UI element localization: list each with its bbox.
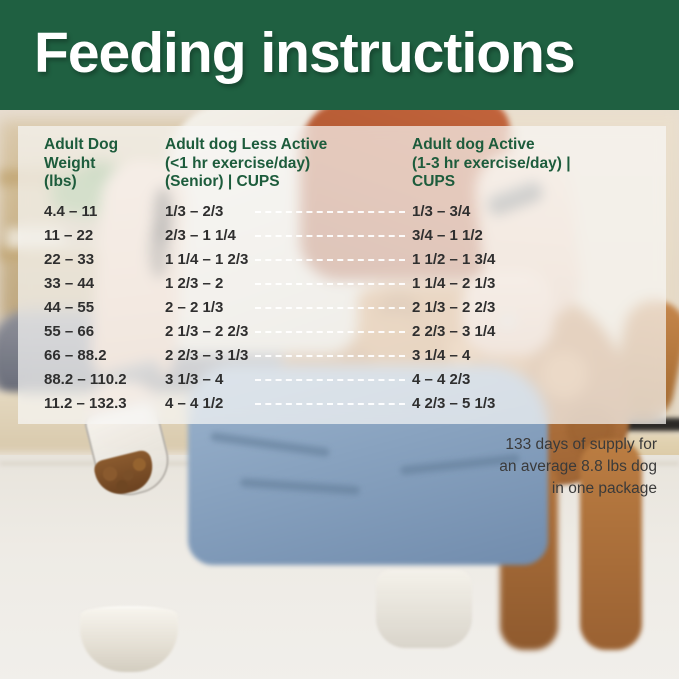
dotted-leader-line bbox=[255, 211, 405, 213]
table-row: 55 – 662 1/3 – 2 2/32 2/3 – 3 1/4 bbox=[18, 320, 666, 344]
table-row: 11 – 222/3 – 1 1/43/4 – 1 1/2 bbox=[18, 224, 666, 248]
cell-less-active: 4 – 4 1/2 bbox=[165, 392, 223, 416]
cell-less-active: 1/3 – 2/3 bbox=[165, 200, 223, 224]
cell-less-active: 1 2/3 – 2 bbox=[165, 272, 223, 296]
supply-note: 133 days of supply for an average 8.8 lb… bbox=[407, 434, 657, 500]
cell-active: 3 1/4 – 4 bbox=[412, 344, 470, 368]
cell-less-active: 3 1/3 – 4 bbox=[165, 368, 223, 392]
cell-weight: 44 – 55 bbox=[44, 296, 94, 320]
cell-weight: 22 – 33 bbox=[44, 248, 94, 272]
cell-active: 1 1/4 – 2 1/3 bbox=[412, 272, 495, 296]
dotted-leader-line bbox=[255, 355, 405, 357]
cell-active: 4 2/3 – 5 1/3 bbox=[412, 392, 495, 416]
column-header-active: Adult dog Active (1-3 hr exercise/day) |… bbox=[412, 136, 571, 192]
cell-less-active: 2/3 – 1 1/4 bbox=[165, 224, 236, 248]
cell-active: 4 – 4 2/3 bbox=[412, 368, 470, 392]
cell-weight: 55 – 66 bbox=[44, 320, 94, 344]
cell-less-active: 2 2/3 – 3 1/3 bbox=[165, 344, 248, 368]
cell-weight: 11 – 22 bbox=[44, 224, 93, 248]
dotted-leader-line bbox=[255, 283, 405, 285]
page-title: Feeding instructions bbox=[34, 20, 575, 86]
cell-active: 1 1/2 – 1 3/4 bbox=[412, 248, 495, 272]
table-row: 4.4 – 111/3 – 2/31/3 – 3/4 bbox=[18, 200, 666, 224]
dotted-leader-line bbox=[255, 307, 405, 309]
cell-less-active: 2 1/3 – 2 2/3 bbox=[165, 320, 248, 344]
table-header-row: Adult Dog Weight (lbs) Adult dog Less Ac… bbox=[18, 126, 666, 198]
dotted-leader-line bbox=[255, 235, 405, 237]
cell-weight: 88.2 – 110.2 bbox=[44, 368, 127, 392]
secondary-bowl bbox=[376, 570, 472, 648]
table-row: 22 – 331 1/4 – 1 2/31 1/2 – 1 3/4 bbox=[18, 248, 666, 272]
header-banner: Feeding instructions bbox=[0, 0, 679, 110]
cell-less-active: 2 – 2 1/3 bbox=[165, 296, 223, 320]
dotted-leader-line bbox=[255, 259, 405, 261]
table-row: 66 – 88.22 2/3 – 3 1/33 1/4 – 4 bbox=[18, 344, 666, 368]
feeding-instructions-page: Feeding instructions Adult Dog Weight (l… bbox=[0, 0, 679, 679]
column-header-weight: Adult Dog Weight (lbs) bbox=[44, 136, 118, 192]
cell-active: 3/4 – 1 1/2 bbox=[412, 224, 483, 248]
table-row: 44 – 552 – 2 1/32 1/3 – 2 2/3 bbox=[18, 296, 666, 320]
table-row: 11.2 – 132.34 – 4 1/24 2/3 – 5 1/3 bbox=[18, 392, 666, 416]
cell-weight: 33 – 44 bbox=[44, 272, 94, 296]
cell-weight: 66 – 88.2 bbox=[44, 344, 107, 368]
dotted-leader-line bbox=[255, 403, 405, 405]
cell-weight: 11.2 – 132.3 bbox=[44, 392, 127, 416]
cell-active: 2 1/3 – 2 2/3 bbox=[412, 296, 495, 320]
cell-weight: 4.4 – 11 bbox=[44, 200, 97, 224]
table-body: 4.4 – 111/3 – 2/31/3 – 3/411 – 222/3 – 1… bbox=[18, 200, 666, 416]
cell-active: 1/3 – 3/4 bbox=[412, 200, 470, 224]
cell-less-active: 1 1/4 – 1 2/3 bbox=[165, 248, 248, 272]
dotted-leader-line bbox=[255, 379, 405, 381]
column-header-less-active: Adult dog Less Active (<1 hr exercise/da… bbox=[165, 136, 327, 192]
table-row: 33 – 441 2/3 – 21 1/4 – 2 1/3 bbox=[18, 272, 666, 296]
feeding-table: Adult Dog Weight (lbs) Adult dog Less Ac… bbox=[18, 126, 666, 424]
cell-active: 2 2/3 – 3 1/4 bbox=[412, 320, 495, 344]
table-row: 88.2 – 110.23 1/3 – 44 – 4 2/3 bbox=[18, 368, 666, 392]
dotted-leader-line bbox=[255, 331, 405, 333]
